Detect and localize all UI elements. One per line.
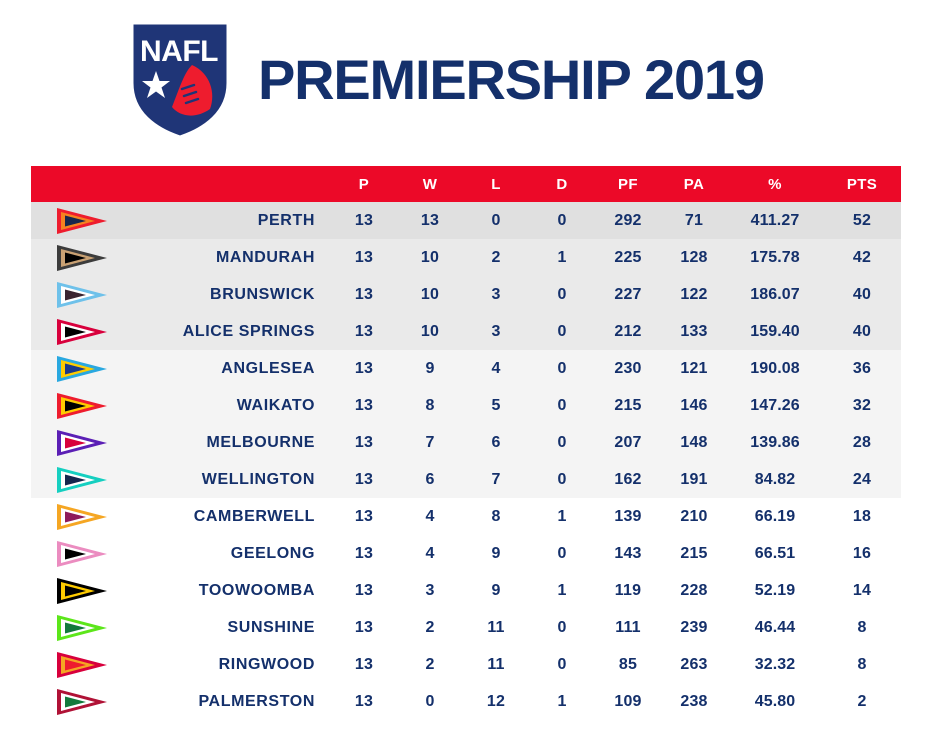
column-header-w[interactable]: W xyxy=(397,166,463,202)
stat-points-for: 111 xyxy=(595,609,661,646)
stat-lost: 9 xyxy=(463,572,529,609)
stat-points-against: 128 xyxy=(661,239,727,276)
stat-points: 8 xyxy=(823,646,901,683)
stat-points-for: 85 xyxy=(595,646,661,683)
team-pennant-icon xyxy=(55,354,126,384)
table-row[interactable]: WAIKATO13850215146147.2632 xyxy=(31,387,901,424)
page-header: NAFL PREMIERSHIP 2019 xyxy=(0,0,930,160)
stat-played: 13 xyxy=(331,535,397,572)
stat-points-against: 215 xyxy=(661,535,727,572)
stat-won: 13 xyxy=(397,202,463,239)
stat-points-for: 225 xyxy=(595,239,661,276)
team-name[interactable]: WAIKATO xyxy=(126,387,331,424)
stat-percentage: 159.40 xyxy=(727,313,823,350)
stat-played: 13 xyxy=(331,350,397,387)
team-pennant-icon xyxy=(55,280,126,310)
stat-points: 40 xyxy=(823,313,901,350)
stat-won: 9 xyxy=(397,350,463,387)
table-row[interactable]: GEELONG1349014321566.5116 xyxy=(31,535,901,572)
team-flag-cell xyxy=(31,683,126,720)
team-pennant-icon xyxy=(55,613,126,643)
stat-points-for: 207 xyxy=(595,424,661,461)
svg-text:NAFL: NAFL xyxy=(140,35,218,68)
stat-points-against: 239 xyxy=(661,609,727,646)
stat-drawn: 1 xyxy=(529,498,595,535)
team-pennant-icon xyxy=(55,206,126,236)
stat-points-for: 212 xyxy=(595,313,661,350)
stat-points: 8 xyxy=(823,609,901,646)
stat-points: 14 xyxy=(823,572,901,609)
stat-points: 40 xyxy=(823,276,901,313)
team-pennant-icon xyxy=(55,317,126,347)
stat-played: 13 xyxy=(331,498,397,535)
stat-played: 13 xyxy=(331,276,397,313)
team-flag-cell xyxy=(31,387,126,424)
stat-points: 32 xyxy=(823,387,901,424)
team-pennant-icon xyxy=(55,243,126,273)
stat-won: 10 xyxy=(397,276,463,313)
stat-percentage: 139.86 xyxy=(727,424,823,461)
stat-drawn: 0 xyxy=(529,609,595,646)
stat-lost: 11 xyxy=(463,609,529,646)
stat-lost: 11 xyxy=(463,646,529,683)
stat-points-against: 133 xyxy=(661,313,727,350)
stat-points-for: 292 xyxy=(595,202,661,239)
table-header: P W L D PF PA % PTS xyxy=(31,166,901,202)
team-name[interactable]: PERTH xyxy=(126,202,331,239)
team-pennant-icon xyxy=(55,650,126,680)
stat-points: 52 xyxy=(823,202,901,239)
stat-drawn: 1 xyxy=(529,683,595,720)
stat-points-against: 71 xyxy=(661,202,727,239)
team-name[interactable]: ALICE SPRINGS xyxy=(126,313,331,350)
stat-played: 13 xyxy=(331,313,397,350)
stat-drawn: 0 xyxy=(529,276,595,313)
stat-played: 13 xyxy=(331,572,397,609)
team-flag-cell xyxy=(31,535,126,572)
team-pennant-icon xyxy=(55,502,126,532)
table-body: PERTH13130029271411.2752MANDURAH13102122… xyxy=(31,202,901,720)
team-name[interactable]: TOOWOOMBA xyxy=(126,572,331,609)
team-name[interactable]: SUNSHINE xyxy=(126,609,331,646)
stat-played: 13 xyxy=(331,387,397,424)
stat-played: 13 xyxy=(331,239,397,276)
stat-won: 2 xyxy=(397,609,463,646)
stat-drawn: 1 xyxy=(529,239,595,276)
stat-drawn: 1 xyxy=(529,572,595,609)
stat-points: 24 xyxy=(823,461,901,498)
header-row: P W L D PF PA % PTS xyxy=(31,166,901,202)
stat-percentage: 46.44 xyxy=(727,609,823,646)
team-name[interactable]: RINGWOOD xyxy=(126,646,331,683)
team-flag-cell xyxy=(31,313,126,350)
team-flag-cell xyxy=(31,646,126,683)
column-header-pct[interactable]: % xyxy=(727,166,823,202)
stat-points: 28 xyxy=(823,424,901,461)
team-pennant-icon xyxy=(55,576,126,606)
stat-points-for: 162 xyxy=(595,461,661,498)
table-row[interactable]: TOOWOOMBA1339111922852.1914 xyxy=(31,572,901,609)
stat-points-for: 227 xyxy=(595,276,661,313)
team-flag-cell xyxy=(31,350,126,387)
stat-lost: 0 xyxy=(463,202,529,239)
team-flag-cell xyxy=(31,202,126,239)
stat-points: 2 xyxy=(823,683,901,720)
stat-points: 36 xyxy=(823,350,901,387)
stat-points-against: 148 xyxy=(661,424,727,461)
page-title: PREMIERSHIP 2019 xyxy=(258,52,764,108)
stat-lost: 2 xyxy=(463,239,529,276)
premiership-ladder-table: P W L D PF PA % PTS PERTH13130029271411.… xyxy=(31,166,901,720)
stat-lost: 7 xyxy=(463,461,529,498)
table-row[interactable]: ALICE SPRINGS131030212133159.4040 xyxy=(31,313,901,350)
stat-percentage: 175.78 xyxy=(727,239,823,276)
stat-won: 4 xyxy=(397,535,463,572)
stat-played: 13 xyxy=(331,424,397,461)
stat-won: 4 xyxy=(397,498,463,535)
stat-drawn: 0 xyxy=(529,387,595,424)
table-row[interactable]: MELBOURNE13760207148139.8628 xyxy=(31,424,901,461)
team-pennant-icon xyxy=(55,465,126,495)
column-header-l[interactable]: L xyxy=(463,166,529,202)
team-flag-cell xyxy=(31,239,126,276)
stat-won: 10 xyxy=(397,313,463,350)
team-pennant-icon xyxy=(55,687,126,717)
team-name[interactable]: WELLINGTON xyxy=(126,461,331,498)
table-row[interactable]: SUNSHINE13211011123946.448 xyxy=(31,609,901,646)
column-header-p[interactable]: P xyxy=(331,166,397,202)
stat-points: 42 xyxy=(823,239,901,276)
stat-percentage: 66.51 xyxy=(727,535,823,572)
stat-points-for: 109 xyxy=(595,683,661,720)
stat-points-against: 238 xyxy=(661,683,727,720)
column-header-d[interactable]: D xyxy=(529,166,595,202)
stat-points-against: 228 xyxy=(661,572,727,609)
stat-won: 2 xyxy=(397,646,463,683)
table-row[interactable]: PERTH13130029271411.2752 xyxy=(31,202,901,239)
team-pennant-icon xyxy=(55,539,126,569)
team-pennant-icon xyxy=(55,428,126,458)
stat-points-against: 263 xyxy=(661,646,727,683)
stat-lost: 8 xyxy=(463,498,529,535)
stat-drawn: 0 xyxy=(529,424,595,461)
team-flag-cell xyxy=(31,572,126,609)
stat-percentage: 186.07 xyxy=(727,276,823,313)
stat-lost: 6 xyxy=(463,424,529,461)
column-header-pf[interactable]: PF xyxy=(595,166,661,202)
stat-played: 13 xyxy=(331,461,397,498)
stat-percentage: 66.19 xyxy=(727,498,823,535)
table-row[interactable]: ANGLESEA13940230121190.0836 xyxy=(31,350,901,387)
stat-points-against: 146 xyxy=(661,387,727,424)
stat-percentage: 52.19 xyxy=(727,572,823,609)
stat-points-for: 143 xyxy=(595,535,661,572)
stat-points-for: 215 xyxy=(595,387,661,424)
table-row[interactable]: MANDURAH131021225128175.7842 xyxy=(31,239,901,276)
stat-won: 0 xyxy=(397,683,463,720)
stat-points-for: 139 xyxy=(595,498,661,535)
stat-points-for: 230 xyxy=(595,350,661,387)
stat-percentage: 411.27 xyxy=(727,202,823,239)
stat-won: 3 xyxy=(397,572,463,609)
stat-drawn: 0 xyxy=(529,461,595,498)
column-header-team xyxy=(126,166,331,202)
stat-lost: 4 xyxy=(463,350,529,387)
stat-points-against: 122 xyxy=(661,276,727,313)
stat-lost: 12 xyxy=(463,683,529,720)
stat-points-against: 210 xyxy=(661,498,727,535)
stat-points-for: 119 xyxy=(595,572,661,609)
stat-points: 18 xyxy=(823,498,901,535)
stat-percentage: 84.82 xyxy=(727,461,823,498)
stat-played: 13 xyxy=(331,683,397,720)
stat-points-against: 121 xyxy=(661,350,727,387)
team-name[interactable]: PALMERSTON xyxy=(126,683,331,720)
stat-won: 7 xyxy=(397,424,463,461)
stat-won: 10 xyxy=(397,239,463,276)
column-header-flag xyxy=(31,166,126,202)
stat-drawn: 0 xyxy=(529,350,595,387)
table-row[interactable]: PALMERSTON13012110923845.802 xyxy=(31,683,901,720)
stat-drawn: 0 xyxy=(529,646,595,683)
team-name[interactable]: BRUNSWICK xyxy=(126,276,331,313)
stat-lost: 3 xyxy=(463,313,529,350)
stat-percentage: 147.26 xyxy=(727,387,823,424)
stat-drawn: 0 xyxy=(529,535,595,572)
team-flag-cell xyxy=(31,461,126,498)
stat-drawn: 0 xyxy=(529,202,595,239)
stat-percentage: 32.32 xyxy=(727,646,823,683)
team-flag-cell xyxy=(31,424,126,461)
team-flag-cell xyxy=(31,498,126,535)
stat-won: 8 xyxy=(397,387,463,424)
stat-percentage: 45.80 xyxy=(727,683,823,720)
team-name[interactable]: GEELONG xyxy=(126,535,331,572)
table-row[interactable]: RINGWOOD1321108526332.328 xyxy=(31,646,901,683)
stat-points: 16 xyxy=(823,535,901,572)
team-flag-cell xyxy=(31,276,126,313)
stat-drawn: 0 xyxy=(529,313,595,350)
stat-lost: 3 xyxy=(463,276,529,313)
column-header-pa[interactable]: PA xyxy=(661,166,727,202)
stat-played: 13 xyxy=(331,202,397,239)
stat-percentage: 190.08 xyxy=(727,350,823,387)
team-name[interactable]: ANGLESEA xyxy=(126,350,331,387)
team-flag-cell xyxy=(31,609,126,646)
column-header-pts[interactable]: PTS xyxy=(823,166,901,202)
stat-played: 13 xyxy=(331,646,397,683)
stat-points-against: 191 xyxy=(661,461,727,498)
stat-won: 6 xyxy=(397,461,463,498)
table-row[interactable]: CAMBERWELL1348113921066.1918 xyxy=(31,498,901,535)
stat-played: 13 xyxy=(331,609,397,646)
stat-lost: 9 xyxy=(463,535,529,572)
team-name[interactable]: MELBOURNE xyxy=(126,424,331,461)
table-row[interactable]: WELLINGTON1367016219184.8224 xyxy=(31,461,901,498)
team-pennant-icon xyxy=(55,391,126,421)
nafl-shield-logo-icon: NAFL xyxy=(130,21,230,139)
table-row[interactable]: BRUNSWICK131030227122186.0740 xyxy=(31,276,901,313)
team-name[interactable]: MANDURAH xyxy=(126,239,331,276)
team-name[interactable]: CAMBERWELL xyxy=(126,498,331,535)
stat-lost: 5 xyxy=(463,387,529,424)
